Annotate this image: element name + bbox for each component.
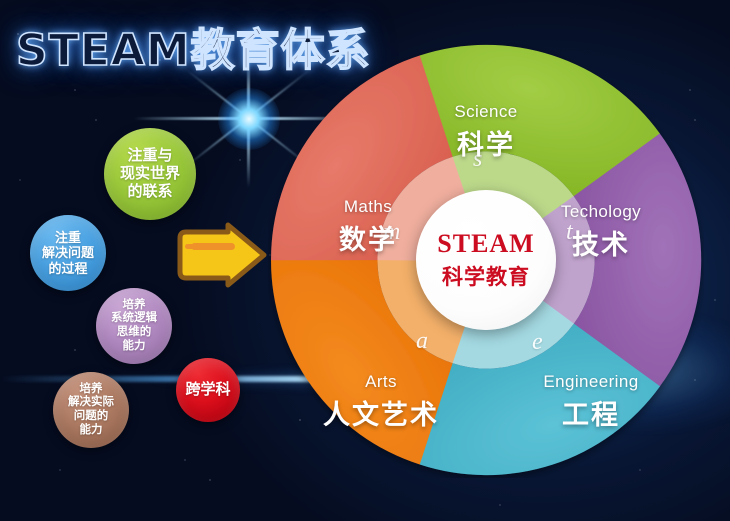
poster-canvas: STEAM教育体系 注重与 现实世界 的联系 注重 解决问题 的过程 培养 系统… xyxy=(0,0,730,521)
center-title-en: STEAM xyxy=(437,229,534,259)
bubble-purple-text: 培养 系统逻辑 思维的 能力 xyxy=(107,299,161,353)
bubble-systematic-logic-thinking[interactable]: 培养 系统逻辑 思维的 能力 xyxy=(96,288,172,364)
inner-letter-m: m xyxy=(383,219,400,246)
bubble-brown-text: 培养 解决实际 问题的 能力 xyxy=(64,383,118,437)
bubble-green-text: 注重与 现实世界 的联系 xyxy=(116,147,184,200)
bubble-interdisciplinary[interactable]: 跨学科 xyxy=(176,358,240,422)
center-hub: STEAM 科学教育 xyxy=(416,190,556,330)
inner-letter-e: e xyxy=(532,329,543,356)
bubble-real-world-connection[interactable]: 注重与 现实世界 的联系 xyxy=(104,128,196,220)
bubble-red-text: 跨学科 xyxy=(181,381,234,399)
inner-letter-s: s xyxy=(473,146,482,173)
inner-letter-t: t xyxy=(566,219,573,246)
inner-letter-a: a xyxy=(416,328,428,355)
bubble-blue-text: 注重 解决问题 的过程 xyxy=(38,230,98,276)
center-title-cn: 科学教育 xyxy=(442,261,530,291)
steam-donut-chart: s t e a m Science 科学 Techology 技术 Engine… xyxy=(268,42,704,478)
arrow-highlight xyxy=(191,243,235,250)
bubble-problem-solving-process[interactable]: 注重 解决问题 的过程 xyxy=(30,215,106,291)
bubble-practical-problem-ability[interactable]: 培养 解决实际 问题的 能力 xyxy=(53,372,129,448)
arrow-right-icon xyxy=(172,222,268,288)
